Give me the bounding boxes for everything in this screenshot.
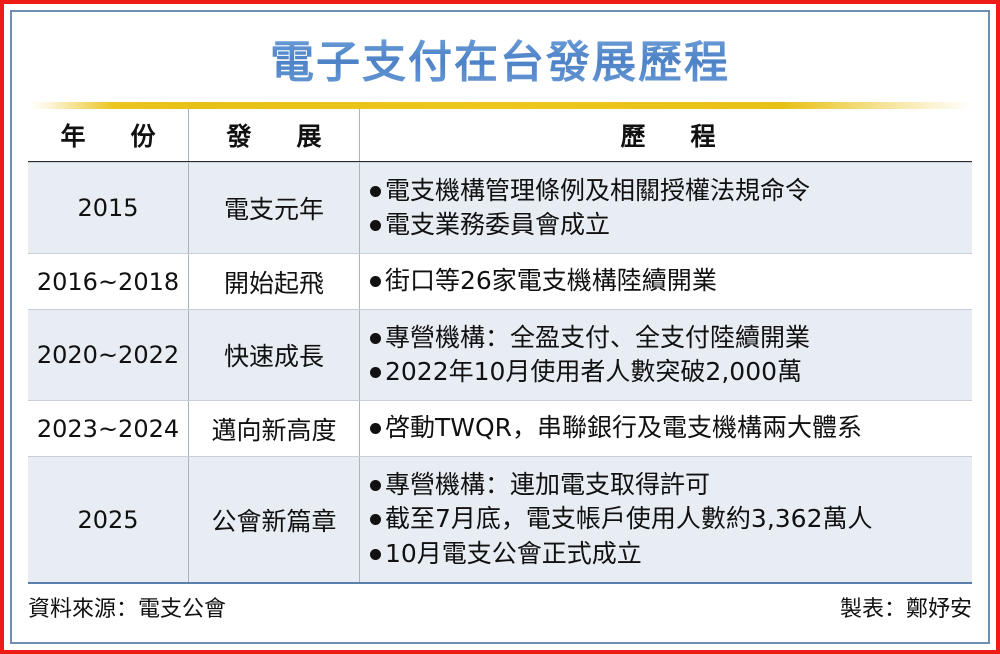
milestone-item: 電支業務委員會成立: [370, 208, 966, 243]
milestone-item: 專營機構：連加電支取得許可: [370, 468, 966, 503]
column-header-history-label: 歷 程: [610, 117, 725, 153]
cell-year: 2015: [28, 163, 188, 253]
table-row: 2023~2024 邁向新高度 啓動TWQR，串聯銀行及電支機構兩大體系: [28, 400, 972, 456]
year-value: 2023~2024: [37, 415, 179, 443]
title-banner: 電子支付在台發展歷程: [14, 14, 986, 102]
milestone-text: 啓動TWQR，串聯銀行及電支機構兩大體系: [385, 411, 862, 446]
milestone-text: 電支業務委員會成立: [385, 208, 610, 243]
development-value: 公會新篇章: [211, 502, 336, 538]
year-value: 2020~2022: [37, 341, 179, 369]
gold-divider-bar: [28, 102, 972, 109]
cell-year: 2025: [28, 457, 188, 582]
cell-history: 啓動TWQR，串聯銀行及電支機構兩大體系: [360, 401, 972, 456]
milestone-text: 截至7月底，電支帳戶使用人數約3,362萬人: [385, 502, 872, 537]
year-value: 2025: [77, 506, 138, 534]
milestone-item: 10月電支公會正式成立: [370, 537, 966, 572]
bullet-icon: [370, 186, 381, 197]
development-value: 電支元年: [224, 190, 324, 226]
column-header-year-label: 年 份: [50, 117, 165, 153]
cell-development: 快速成長: [188, 310, 360, 400]
milestone-item: 電支機構管理條例及相關授權法規命令: [370, 174, 966, 209]
year-value: 2016~2018: [37, 268, 179, 296]
cell-development: 開始起飛: [188, 254, 360, 309]
bullet-icon: [370, 514, 381, 525]
table-row: 2016~2018 開始起飛 街口等26家電支機構陸續開業: [28, 253, 972, 309]
bullet-icon: [370, 276, 381, 287]
column-header-year: 年 份: [28, 109, 188, 161]
infographic-content: 電子支付在台發展歷程 年 份 發 展 歷 程 2015: [14, 14, 986, 640]
source-label: 資料來源：電支公會: [28, 591, 226, 623]
credit-label: 製表：鄭妤安: [840, 591, 972, 623]
development-value: 邁向新高度: [211, 411, 336, 447]
milestone-text: 專營機構：全盈支付、全支付陸續開業: [385, 321, 810, 356]
column-header-history: 歷 程: [360, 109, 972, 161]
bullet-icon: [370, 333, 381, 344]
milestone-item: 截至7月底，電支帳戶使用人數約3,362萬人: [370, 502, 966, 537]
footer-bar: 資料來源：電支公會 製表：鄭妤安: [28, 582, 972, 628]
year-value: 2015: [77, 194, 138, 222]
milestone-text: 街口等26家電支機構陸續開業: [385, 264, 717, 299]
column-header-development-label: 發 展: [216, 117, 331, 153]
cell-history: 專營機構：全盈支付、全支付陸續開業 2022年10月使用者人數突破2,000萬: [360, 310, 972, 400]
cell-year: 2016~2018: [28, 254, 188, 309]
table-row: 2015 電支元年 電支機構管理條例及相關授權法規命令 電支業務委員會成立: [28, 162, 972, 253]
bullet-icon: [370, 220, 381, 231]
cell-year: 2023~2024: [28, 401, 188, 456]
development-value: 快速成長: [224, 337, 324, 373]
infographic-page: 電子支付在台發展歷程 年 份 發 展 歷 程 2015: [0, 0, 1000, 654]
milestone-item: 街口等26家電支機構陸續開業: [370, 264, 966, 299]
milestone-item: 2022年10月使用者人數突破2,000萬: [370, 355, 966, 390]
bullet-icon: [370, 367, 381, 378]
cell-year: 2020~2022: [28, 310, 188, 400]
development-value: 開始起飛: [224, 264, 324, 300]
milestone-item: 啓動TWQR，串聯銀行及電支機構兩大體系: [370, 411, 966, 446]
milestone-text: 專營機構：連加電支取得許可: [385, 468, 710, 503]
cell-development: 邁向新高度: [188, 401, 360, 456]
cell-development: 公會新篇章: [188, 457, 360, 582]
column-header-development: 發 展: [188, 109, 360, 161]
table-row: 2020~2022 快速成長 專營機構：全盈支付、全支付陸續開業 2022年10…: [28, 309, 972, 400]
cell-history: 電支機構管理條例及相關授權法規命令 電支業務委員會成立: [360, 163, 972, 253]
history-table: 年 份 發 展 歷 程 2015 電支元年: [28, 109, 972, 582]
cell-history: 街口等26家電支機構陸續開業: [360, 254, 972, 309]
cell-development: 電支元年: [188, 163, 360, 253]
table-row: 2025 公會新篇章 專營機構：連加電支取得許可 截至7月底，電支帳戶使用人數約…: [28, 456, 972, 582]
bullet-icon: [370, 423, 381, 434]
table-header-row: 年 份 發 展 歷 程: [28, 109, 972, 162]
milestone-text: 電支機構管理條例及相關授權法規命令: [385, 174, 810, 209]
milestone-text: 10月電支公會正式成立: [385, 537, 642, 572]
milestone-text: 2022年10月使用者人數突破2,000萬: [385, 355, 802, 390]
cell-history: 專營機構：連加電支取得許可 截至7月底，電支帳戶使用人數約3,362萬人 10月…: [360, 457, 972, 582]
page-title: 電子支付在台發展歷程: [270, 26, 730, 90]
bullet-icon: [370, 549, 381, 560]
milestone-item: 專營機構：全盈支付、全支付陸續開業: [370, 321, 966, 356]
bullet-icon: [370, 480, 381, 491]
